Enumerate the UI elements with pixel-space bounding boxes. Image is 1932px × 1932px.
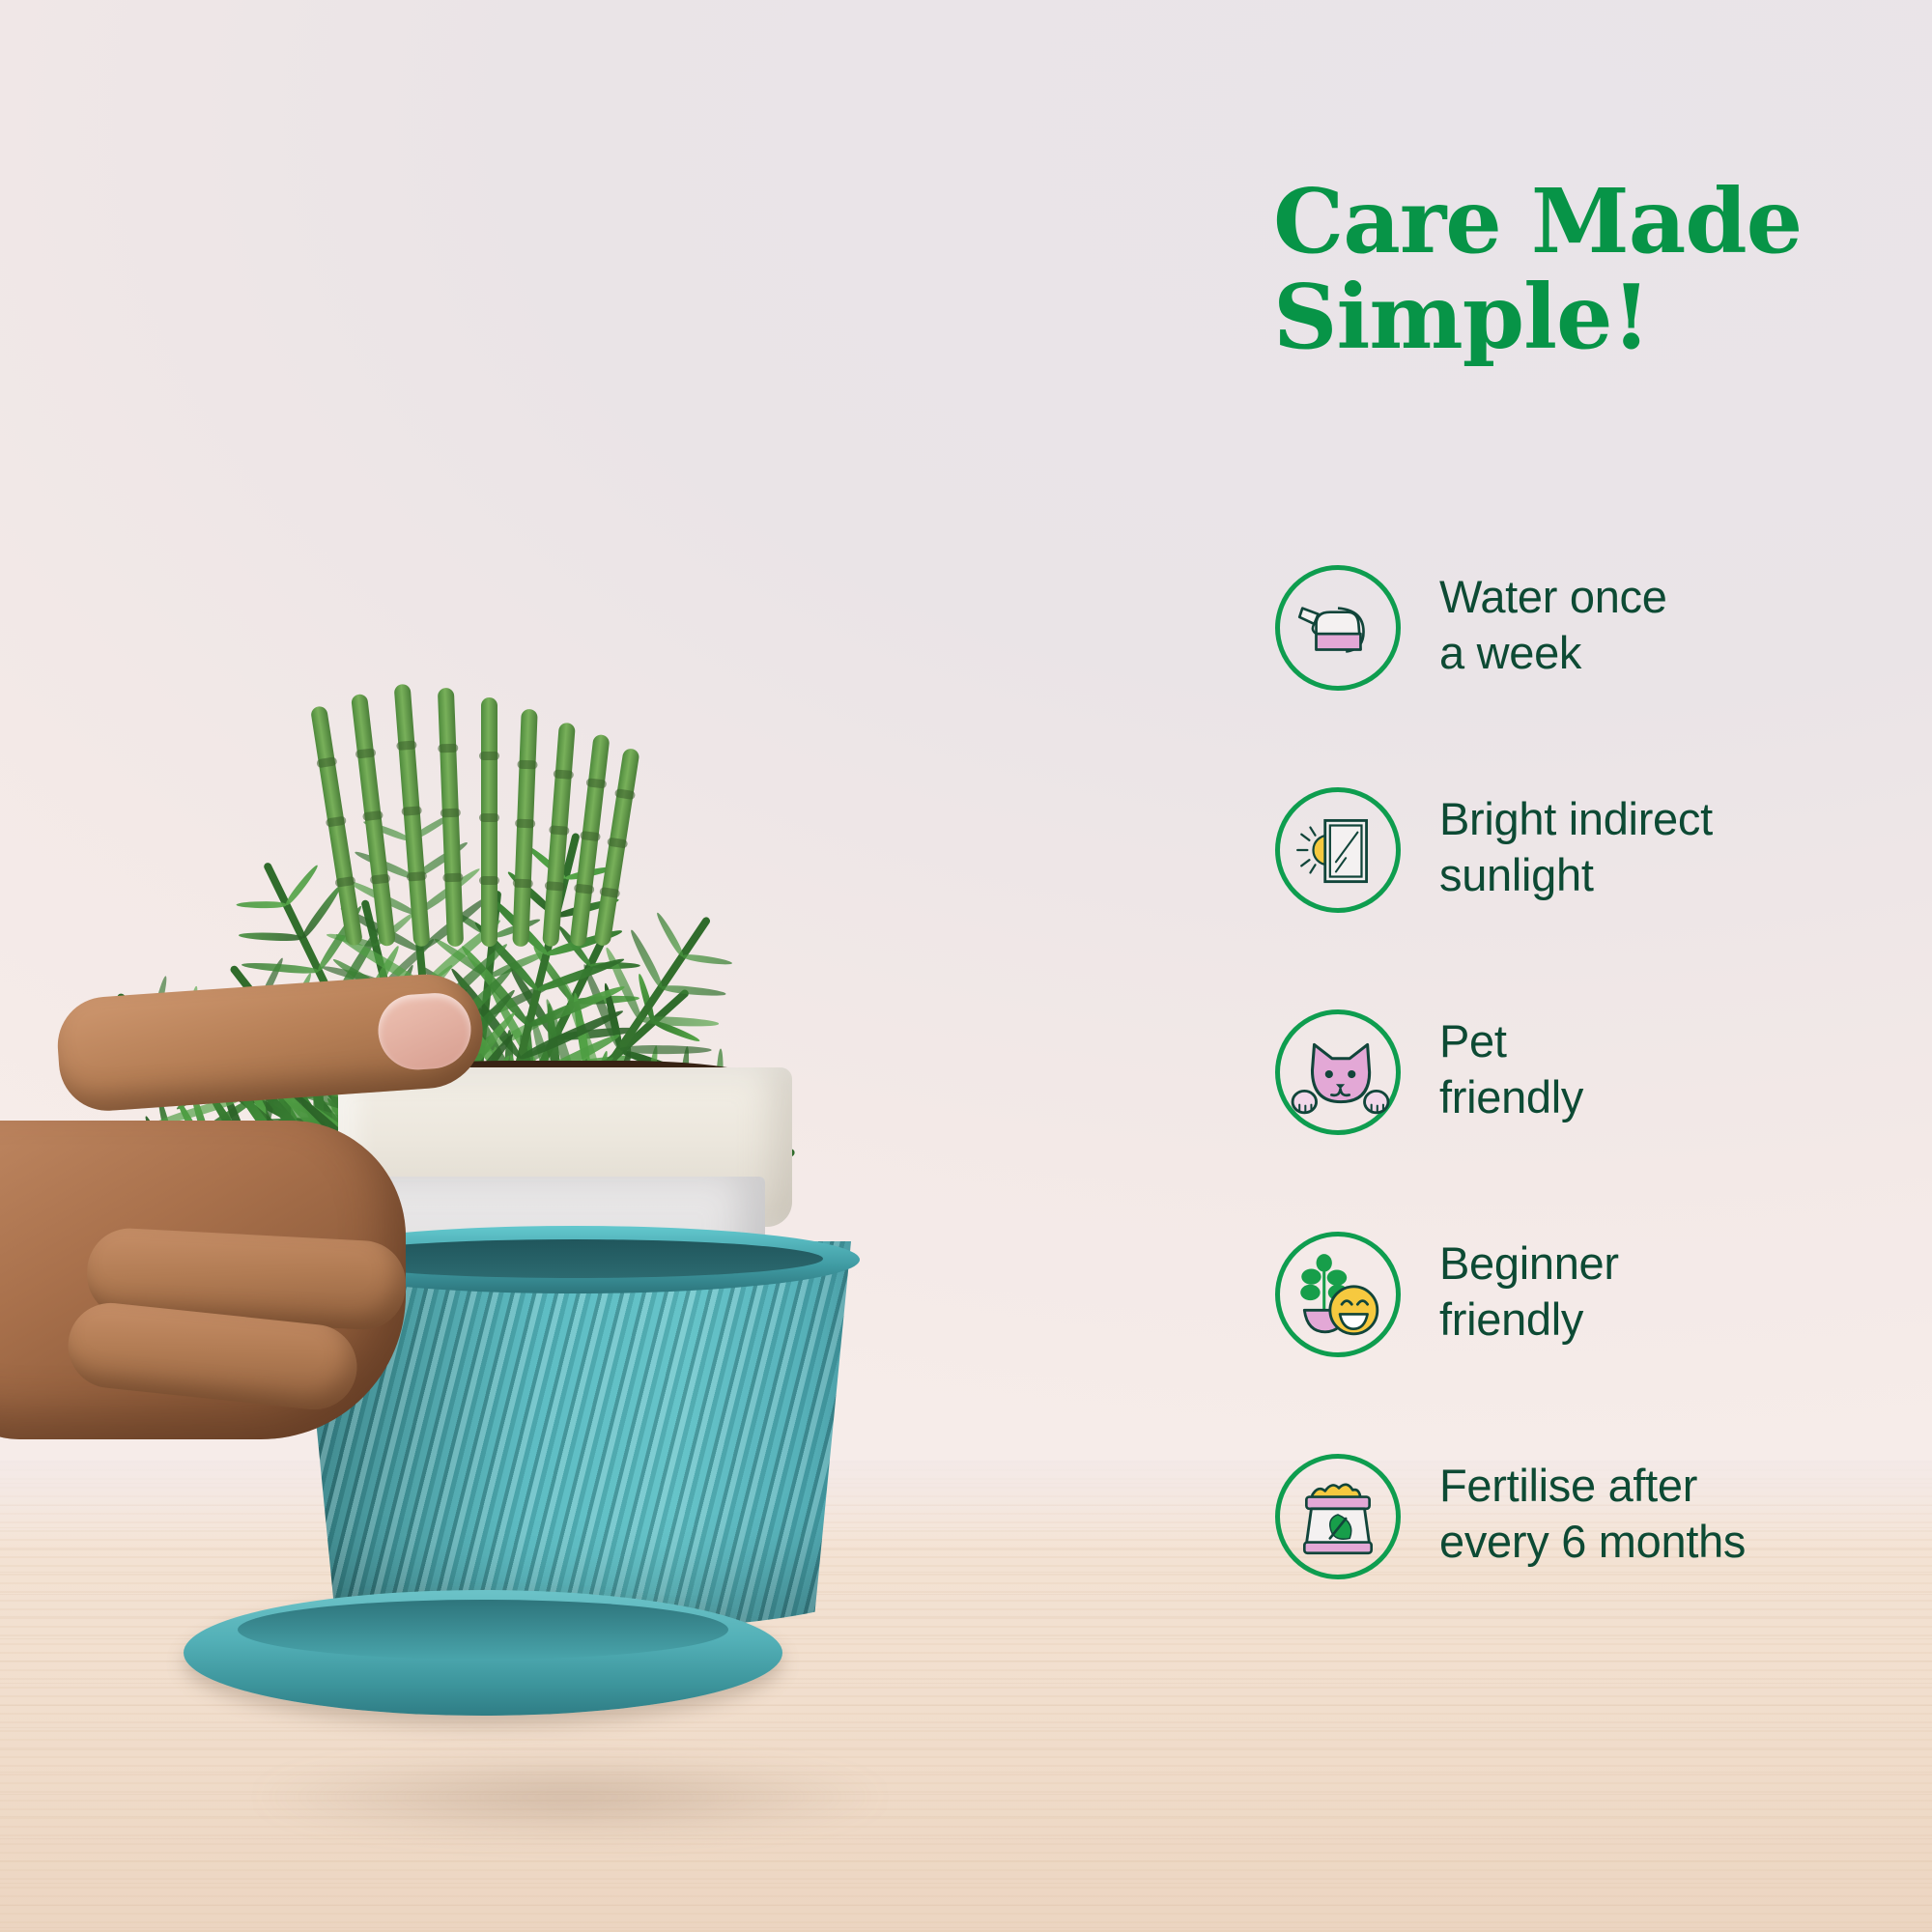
product-photo — [0, 0, 1063, 1932]
stem-node — [545, 881, 566, 892]
stem-node — [362, 810, 384, 821]
plant-stem — [394, 684, 431, 948]
care-list: Water once a week — [1265, 565, 1932, 1676]
promo-card: Care Made Simple! Water once — [0, 0, 1932, 1932]
stem-node — [515, 819, 535, 829]
cat-face-icon — [1275, 1009, 1401, 1135]
plant-stems — [319, 667, 647, 947]
stem-node — [574, 883, 595, 894]
thumb — [54, 971, 486, 1114]
stem-node — [370, 873, 391, 884]
fertiliser-bag-glyph — [1289, 1467, 1387, 1566]
palm-leaflet — [236, 901, 286, 908]
plant-stem — [481, 697, 497, 947]
watering-can-icon — [1275, 565, 1401, 691]
palm-leaflet — [682, 952, 732, 966]
palm-leaflet — [239, 932, 303, 942]
care-item-fertilise: Fertilise after every 6 months — [1265, 1454, 1932, 1676]
care-item-label: Pet friendly — [1439, 1013, 1922, 1125]
care-item-beginner: Beginner friendly — [1265, 1232, 1932, 1454]
care-item-label: Water once a week — [1439, 569, 1922, 681]
watering-can-glyph — [1289, 579, 1387, 677]
stem-node — [585, 778, 607, 788]
stem-node — [396, 740, 417, 751]
care-item-label: Fertilise after every 6 months — [1439, 1458, 1922, 1570]
care-item-label: Beginner friendly — [1439, 1236, 1922, 1348]
stem-node — [316, 756, 337, 768]
page-title-line1: Care Made — [1273, 174, 1891, 270]
stem-node — [607, 837, 628, 848]
stem-node — [442, 873, 463, 883]
stem-node — [407, 871, 428, 882]
page-title-line2: Simple! — [1273, 270, 1891, 365]
potted-plant-smiley-icon — [1275, 1232, 1401, 1357]
cat-face-glyph — [1289, 1023, 1387, 1122]
plant-stem — [512, 709, 537, 947]
stem-node — [517, 759, 537, 769]
palm-leaflet — [654, 911, 685, 958]
care-item-water: Water once a week — [1265, 565, 1932, 787]
stem-node — [614, 788, 636, 800]
sun-window-glyph — [1289, 801, 1387, 899]
stem-node — [549, 825, 570, 836]
stem-node — [401, 806, 422, 816]
stem-node — [334, 875, 355, 887]
potted-plant-smiley-glyph — [1289, 1245, 1387, 1344]
plant-stem — [542, 723, 576, 948]
stem-node — [355, 748, 377, 758]
care-item-light: Bright indirect sunlight — [1265, 787, 1932, 1009]
stem-node — [479, 752, 499, 760]
page-title: Care Made Simple! — [1273, 174, 1891, 366]
stem-node — [513, 878, 533, 888]
care-info-panel: Care Made Simple! Water once — [1256, 0, 1932, 1932]
stem-node — [440, 809, 461, 818]
stem-node — [479, 813, 499, 822]
plant-stem — [438, 688, 464, 947]
palm-leaflet — [284, 863, 321, 906]
stem-node — [599, 886, 620, 897]
palm-leaflet — [661, 984, 726, 998]
stem-node — [438, 744, 458, 753]
hand-holding-pot — [0, 1005, 618, 1546]
pot-saucer — [184, 1590, 782, 1716]
care-item-label: Bright indirect sunlight — [1439, 791, 1922, 903]
care-item-pet: Pet friendly — [1265, 1009, 1932, 1232]
stem-node — [479, 876, 499, 885]
stem-node — [580, 831, 601, 841]
fertiliser-bag-icon — [1275, 1454, 1401, 1579]
stem-node — [553, 769, 574, 780]
sun-window-icon — [1275, 787, 1401, 913]
thumbnail — [376, 991, 473, 1073]
stem-node — [326, 815, 347, 827]
